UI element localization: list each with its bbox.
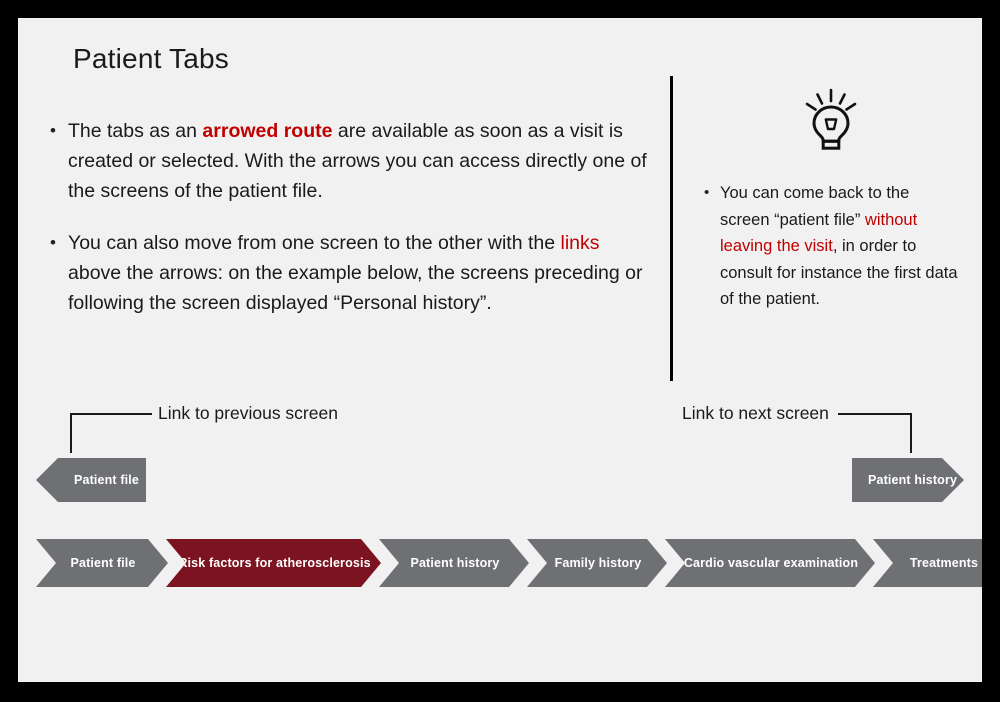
breadcrumb-chevron-label: Family history [555,556,642,570]
breadcrumb-chevron-label: Patient history [410,556,499,570]
tip-bullet-item: • You can come back to the screen “patie… [700,180,962,313]
breadcrumb-chevron[interactable]: Patient file [36,539,168,587]
emphasis-text: links [560,232,599,254]
breadcrumb-chevron[interactable]: Cardio vascular examination [665,539,875,587]
previous-screen-arrow-label: Patient file [74,473,139,487]
lightbulb-icon-container [700,88,962,156]
next-connector-horizontal [838,413,912,415]
body-text: The tabs as an [68,120,202,142]
bullet-item: •The tabs as an arrowed route are availa… [46,116,656,206]
breadcrumb-chevron[interactable]: Patient history [379,539,529,587]
breadcrumb-chevron[interactable]: Family history [527,539,667,587]
previous-screen-arrow-button[interactable]: Patient file [36,458,146,502]
previous-connector-horizontal [70,413,152,415]
bullet-marker: • [46,116,68,146]
slide-canvas: Patient Tabs •The tabs as an arrowed rou… [18,18,982,682]
bullet-marker: • [46,228,68,258]
bullet-text: The tabs as an arrowed route are availab… [68,116,656,206]
body-text: You can also move from one screen to the… [68,232,560,254]
link-to-next-screen-label: Link to next screen [682,403,829,424]
bullet-marker: • [700,180,720,206]
body-text: above the arrows: on the example below, … [68,262,643,314]
breadcrumb-chevron[interactable]: Treatments [873,539,982,587]
next-screen-arrow-button[interactable]: Patient history [852,458,964,502]
lightbulb-icon [700,88,962,150]
link-to-previous-screen-label: Link to previous screen [158,403,338,424]
next-screen-arrow-label: Patient history [868,473,957,487]
breadcrumb-chevron-label: Risk factors for atherosclerosis [178,556,370,570]
breadcrumb-chevron-label: Treatments [910,556,978,570]
next-connector-vertical [910,413,912,453]
breadcrumb-chevron-label: Patient file [70,556,135,570]
right-content-column: • You can come back to the screen “patie… [700,88,962,313]
bullet-text: You can also move from one screen to the… [68,228,656,318]
column-divider [670,76,673,381]
bullet-item: •You can also move from one screen to th… [46,228,656,318]
left-content-column: •The tabs as an arrowed route are availa… [46,116,656,340]
breadcrumb-chevron[interactable]: Risk factors for atherosclerosis [166,539,381,587]
page-title: Patient Tabs [73,43,229,75]
slide-frame: Patient Tabs •The tabs as an arrowed rou… [0,0,1000,702]
previous-connector-vertical [70,413,72,453]
tip-bullet-text: You can come back to the screen “patient… [720,180,962,313]
breadcrumb-chevron-label: Cardio vascular examination [684,556,858,570]
breadcrumb-chevron-bar: Patient fileRisk factors for atheroscler… [36,539,964,587]
emphasis-text: arrowed route [202,120,332,142]
